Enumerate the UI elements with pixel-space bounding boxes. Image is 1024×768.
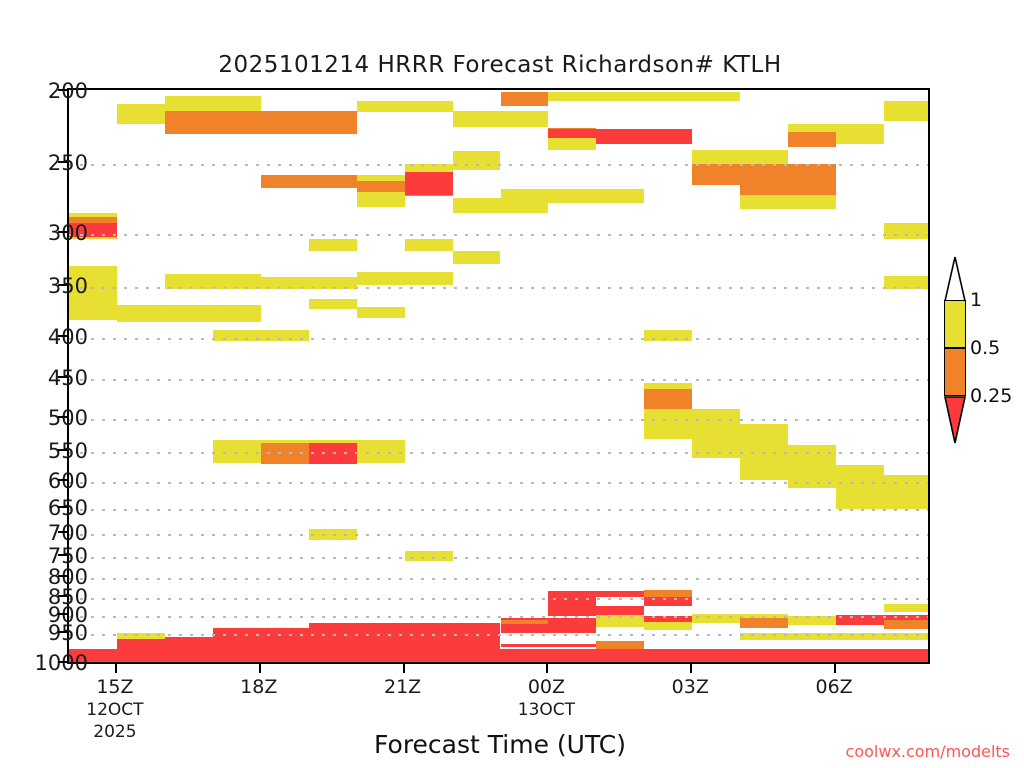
- heatmap-cell: [261, 175, 357, 188]
- heatmap-cell: [644, 606, 692, 614]
- y-axis-tick-mark: [58, 531, 67, 533]
- heatmap-cell: [309, 239, 357, 251]
- heatmap-cell: [548, 138, 596, 150]
- colorbar-tick-label: 1: [970, 289, 982, 311]
- y-axis-tick-mark: [58, 335, 67, 337]
- heatmap-cell: [596, 615, 644, 627]
- y-axis-tick-label: 550: [0, 439, 88, 463]
- heatmap-cell: [117, 637, 213, 649]
- heatmap-cell: [501, 620, 549, 624]
- y-axis-tick-label: 400: [0, 325, 88, 349]
- y-axis-tick-mark: [58, 161, 67, 163]
- heatmap-cell: [884, 620, 930, 629]
- colorbar-segment: [944, 300, 966, 348]
- y-axis-tick-label: 300: [0, 221, 88, 245]
- heatmap-cell: [836, 475, 930, 509]
- heatmap-cell: [453, 111, 549, 127]
- x-axis-tick-mark: [546, 664, 548, 673]
- chart-root: 2025101214 HRRR Forecast Richardson# KTL…: [0, 0, 1024, 768]
- x-axis-sub-label: 13OCT: [518, 700, 575, 720]
- x-axis-tick-label: 03Z: [672, 676, 709, 698]
- colorbar-tick-label: 0.25: [970, 385, 1012, 407]
- heatmap-cells: [69, 90, 928, 662]
- y-axis-tick-mark: [58, 554, 67, 556]
- heatmap-cell: [357, 101, 453, 113]
- heatmap-cell: [213, 330, 309, 341]
- heatmap-cell: [405, 551, 453, 561]
- colorbar-segment: [944, 348, 966, 396]
- colorbar-upper-arrow-outline: [944, 256, 966, 302]
- heatmap-cell: [740, 633, 836, 640]
- y-axis-tick-label: 200: [0, 79, 88, 103]
- colorbar-tick-label: 0.5: [970, 337, 1000, 359]
- heatmap-cell: [405, 239, 453, 251]
- heatmap-cell: [117, 305, 261, 321]
- y-axis-tick-label: 350: [0, 274, 88, 298]
- x-axis-tick-mark: [403, 664, 405, 673]
- heatmap-cell: [213, 628, 309, 649]
- y-axis-tick-label: 450: [0, 366, 88, 390]
- heatmap-cell: [884, 276, 930, 289]
- heatmap-cell: [261, 277, 357, 289]
- y-axis-tick-label: 700: [0, 521, 88, 545]
- y-axis-tick-mark: [58, 631, 67, 633]
- heatmap-cell: [501, 189, 549, 204]
- heatmap-cell: [501, 633, 597, 644]
- y-axis-tick-mark: [58, 595, 67, 597]
- heatmap-cell: [644, 590, 692, 597]
- page-title: 2025101214 HRRR Forecast Richardson# KTL…: [0, 52, 1000, 78]
- heatmap-cell: [69, 649, 930, 664]
- heatmap-cell: [836, 633, 930, 640]
- heatmap-cell: [117, 633, 165, 639]
- y-axis-tick-mark: [58, 661, 67, 663]
- y-axis-tick-label: 500: [0, 406, 88, 430]
- y-axis-tick-mark: [58, 231, 67, 233]
- heatmap-cell: [309, 443, 357, 464]
- y-axis-tick-mark: [58, 613, 67, 615]
- heatmap-cell: [884, 101, 930, 121]
- heatmap-cell: [596, 641, 644, 649]
- x-axis-tick-mark: [115, 664, 117, 673]
- x-axis-tick-label: 00Z: [528, 676, 565, 698]
- heatmap-cell: [357, 307, 405, 317]
- colorbar-lower-arrow: [944, 396, 966, 444]
- x-axis-tick-label: 21Z: [384, 676, 421, 698]
- heatmap-cell: [740, 195, 836, 209]
- y-axis-tick-mark: [58, 416, 67, 418]
- heatmap-cell: [501, 92, 549, 106]
- heatmap-cell: [357, 272, 453, 285]
- y-axis-tick-label: 950: [0, 621, 88, 645]
- x-axis-tick-mark: [834, 664, 836, 673]
- heatmap-cell: [548, 189, 644, 203]
- heatmap-cell: [309, 529, 357, 540]
- heatmap-cell: [453, 151, 501, 170]
- heatmap-cell: [357, 192, 405, 207]
- y-axis-tick-mark: [58, 376, 67, 378]
- x-axis-tick-mark: [259, 664, 261, 673]
- y-axis-tick-label: 1000: [0, 651, 88, 675]
- heatmap-cell: [644, 330, 692, 341]
- heatmap-cell: [309, 299, 357, 309]
- y-axis-tick-mark: [58, 506, 67, 508]
- y-axis-tick-mark: [58, 284, 67, 286]
- y-axis-tick-mark: [58, 449, 67, 451]
- y-axis-tick-label: 650: [0, 496, 88, 520]
- heatmap-cell: [165, 274, 261, 289]
- y-axis-tick-label: 600: [0, 469, 88, 493]
- heatmap-cell: [644, 622, 692, 630]
- heatmap-cell: [788, 132, 836, 146]
- heatmap-cell: [261, 443, 309, 464]
- heatmap-cell: [165, 111, 357, 134]
- heatmap-cell: [644, 635, 692, 645]
- heatmap-cell: [453, 251, 501, 264]
- heatmap-cell: [884, 223, 930, 240]
- x-axis-tick-label: 15Z: [96, 676, 133, 698]
- plot-area: [67, 88, 930, 664]
- heatmap-cell: [884, 604, 930, 612]
- y-axis-tick-mark: [58, 89, 67, 91]
- y-axis-tick-mark: [58, 575, 67, 577]
- y-axis-tick-mark: [58, 479, 67, 481]
- x-axis-tick-label: 06Z: [816, 676, 853, 698]
- heatmap-cell: [596, 597, 644, 606]
- credit-text: coolwx.com/modelts: [846, 742, 1010, 761]
- x-axis-tick-mark: [690, 664, 692, 673]
- x-axis-tick-label: 18Z: [240, 676, 277, 698]
- heatmap-cell: [740, 618, 788, 628]
- heatmap-cell: [405, 172, 453, 194]
- heatmap-cell: [309, 623, 501, 649]
- x-axis-sub-label: 12OCT: [86, 700, 143, 720]
- heatmap-cell: [548, 92, 740, 101]
- y-axis-tick-label: 250: [0, 151, 88, 175]
